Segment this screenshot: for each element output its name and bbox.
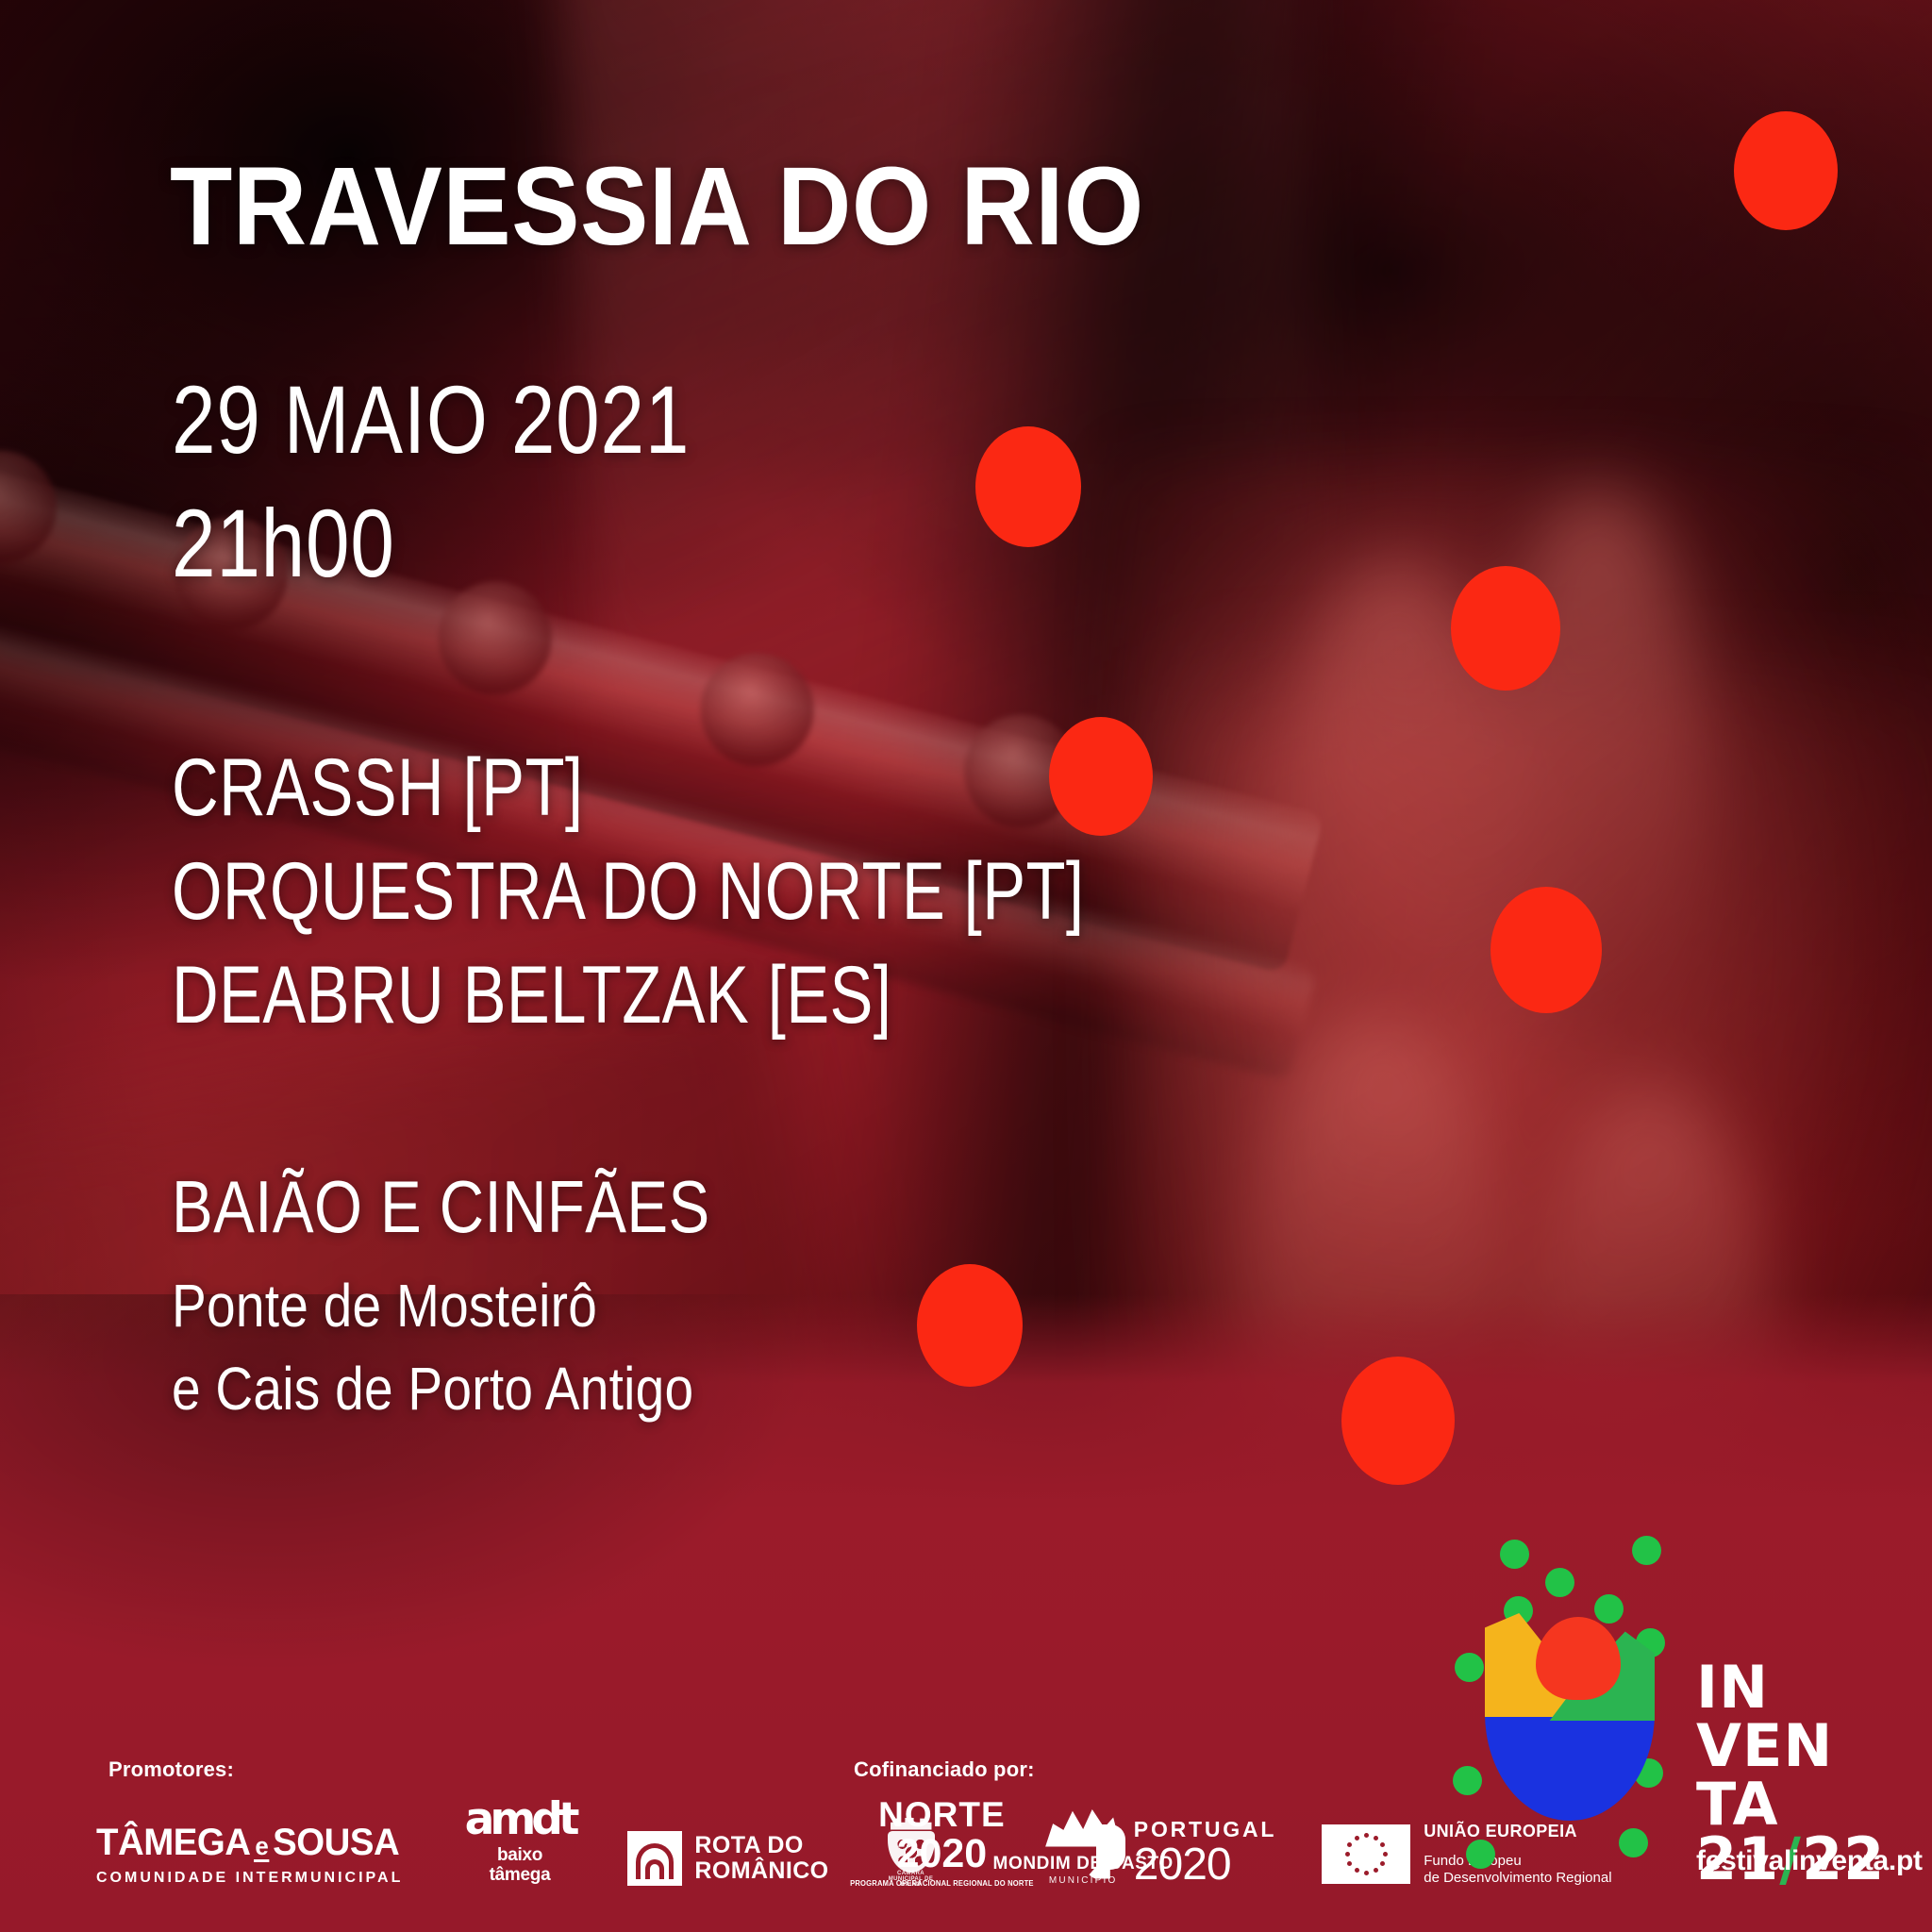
venue-city: BAIÃO E CINFÃES [172, 1170, 710, 1243]
event-datetime: 29 MAIO 2021 21h00 [172, 358, 690, 605]
norte-line2: 2020 [845, 1834, 1039, 1874]
portugal-label: PORTUGAL [1134, 1819, 1276, 1840]
lineup-item: DEABRU BELTZAK [ES] [172, 943, 1084, 1047]
norte-line1: NORTE [845, 1797, 1039, 1832]
eu-star [1345, 1852, 1350, 1857]
venue-address: Ponte de Mosteirô e Cais de Porto Antigo [172, 1264, 693, 1431]
amdt-line1: baixo [465, 1845, 575, 1865]
accent-dot [917, 1264, 1023, 1387]
logo-tamega-e-sousa[interactable]: TÂMEGA e SOUSA COMUNIDADE INTERMUNICIPAL [96, 1824, 412, 1886]
event-date: 29 MAIO 2021 [172, 358, 690, 482]
lineup-item: CRASSH [PT] [172, 736, 1084, 840]
accent-dot [1734, 111, 1838, 230]
inventa-red-shape [1536, 1617, 1621, 1700]
logo-norte-2020[interactable]: NORTE 2020 PROGRAMA OPERACIONAL REGIONAL… [845, 1797, 1039, 1888]
inventa-dot [1619, 1828, 1648, 1857]
eu-star [1364, 1871, 1369, 1875]
festival-url[interactable]: festivalinventa.pt [1696, 1845, 1923, 1877]
eu-star [1347, 1842, 1352, 1847]
inventa-blue-shape [1485, 1713, 1655, 1821]
page-title: TRAVESSIA DO RIO [170, 151, 1144, 262]
portugal-leaf-icon [1084, 1824, 1125, 1883]
amdt-wordmark: amdt [465, 1797, 575, 1841]
eu-star [1364, 1833, 1369, 1838]
eu-star [1383, 1852, 1388, 1857]
lineup-item: ORQUESTRA DO NORTE [PT] [172, 840, 1084, 943]
inventa-dot [1466, 1840, 1495, 1869]
logo-amdt-baixo-tamega[interactable]: amdt baixo tâmega [465, 1797, 575, 1886]
tamega-word2: SOUSA [273, 1824, 399, 1861]
tamega-connector: e [254, 1835, 269, 1862]
accent-dot [1341, 1357, 1455, 1485]
romanesque-arch-icon [627, 1831, 682, 1886]
accent-dot [1451, 566, 1560, 691]
logo-rota-do-romanico[interactable]: ROTA DO ROMÂNICO [627, 1831, 828, 1886]
festival-logo[interactable]: IN VEN TA 21/22 festivalinventa.pt [1413, 1509, 1932, 1906]
inventa-wordmark-ven: VEN [1696, 1719, 1833, 1774]
eu-star [1380, 1842, 1385, 1847]
norte-subtitle: PROGRAMA OPERACIONAL REGIONAL DO NORTE [850, 1880, 1034, 1888]
eu-star [1374, 1836, 1378, 1840]
inventa-symbol [1413, 1509, 1724, 1887]
amdt-line2: tâmega [465, 1865, 575, 1885]
promoters-label: Promotores: [108, 1757, 234, 1782]
inventa-dot [1500, 1540, 1529, 1569]
tamega-word1: TÂMEGA [96, 1824, 251, 1861]
inventa-shape [1485, 1613, 1655, 1821]
eu-flag-icon [1322, 1824, 1410, 1884]
inventa-dot [1455, 1653, 1484, 1682]
cofinanced-label: Cofinanciado por: [854, 1757, 1035, 1782]
eu-star [1347, 1861, 1352, 1866]
venue-address-line: e Cais de Porto Antigo [172, 1347, 693, 1430]
event-time: 21h00 [172, 482, 690, 606]
venue-address-line: Ponte de Mosteirô [172, 1264, 693, 1347]
eu-star [1355, 1836, 1359, 1840]
inventa-dot [1545, 1568, 1574, 1597]
inventa-wordmark-in: IN [1696, 1660, 1769, 1715]
tamega-subtitle: COMUNIDADE INTERMUNICIPAL [96, 1871, 412, 1886]
portugal-year: 2020 [1134, 1842, 1276, 1888]
rota-line2: ROMÂNICO [694, 1858, 828, 1884]
accent-dot [975, 426, 1081, 547]
eu-star [1355, 1868, 1359, 1873]
event-poster: TRAVESSIA DO RIO 29 MAIO 2021 21h00 CRAS… [0, 0, 1932, 1932]
logo-portugal-2020[interactable]: PORTUGAL 2020 [1084, 1819, 1276, 1888]
inventa-dot [1632, 1536, 1661, 1565]
inventa-dot [1453, 1766, 1482, 1795]
lineup-list: CRASSH [PT] ORQUESTRA DO NORTE [PT] DEAB… [172, 736, 1084, 1047]
eu-star [1374, 1868, 1378, 1873]
rota-line1: ROTA DO [694, 1833, 828, 1858]
eu-star [1380, 1861, 1385, 1866]
accent-dot [1491, 887, 1602, 1013]
